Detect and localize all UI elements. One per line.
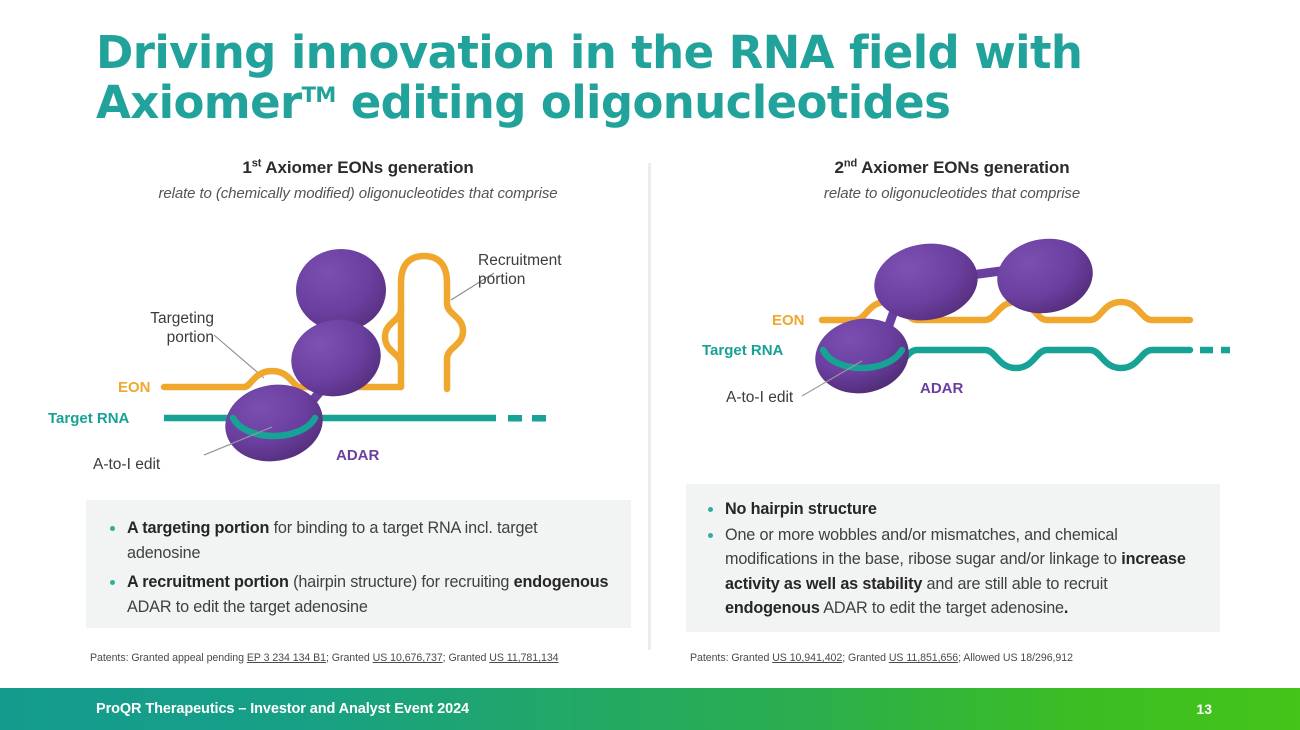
bullet-emphasis: No hairpin structure xyxy=(725,500,877,518)
bullet-text: and are still able to recruit xyxy=(922,575,1107,593)
recruitment-portion-label: Recruitment portion xyxy=(478,251,562,289)
eon-strand-right xyxy=(822,302,1190,320)
first-generation-patents-note: Patents: Granted appeal pending EP 3 234… xyxy=(90,652,559,664)
eon-hairpin-left-side xyxy=(401,256,463,389)
bullet-emphasis: endogenous xyxy=(725,599,820,617)
target-rna-dash-2 xyxy=(532,415,546,422)
adar-domain-right-first xyxy=(869,236,984,327)
patent-text: Patents: Granted appeal pending xyxy=(90,652,247,664)
title-line-2-axiomer: Axiomer xyxy=(96,76,302,129)
target-rna-strand-label: Target RNA xyxy=(48,410,129,427)
list-item: No hairpin structure xyxy=(702,497,1204,522)
trademark-superscript: TM xyxy=(302,83,336,107)
recruitment-portion-label-line2: portion xyxy=(478,271,525,288)
list-item: A targeting portion for binding to a tar… xyxy=(104,516,613,566)
patent-link[interactable]: US 10,941,402 xyxy=(772,652,842,664)
patent-link[interactable]: EP 3 234 134 B1 xyxy=(247,652,326,664)
first-generation-callout-box: A targeting portion for binding to a tar… xyxy=(86,500,631,628)
bullet-text: One or more wobbles and/or mismatches, a… xyxy=(725,526,1121,569)
page-title: Driving innovation in the RNA field with… xyxy=(96,28,1136,128)
bullet-emphasis: . xyxy=(1064,599,1068,617)
patent-text: ; Granted xyxy=(443,652,490,664)
patent-link[interactable]: US 10,676,737 xyxy=(373,652,443,664)
column-divider xyxy=(648,163,651,650)
adar-label: ADAR xyxy=(336,447,379,464)
first-generation-bullet-list: A targeting portion for binding to a tar… xyxy=(104,516,613,620)
slide-footer-bar: ProQR Therapeutics – Investor and Analys… xyxy=(0,688,1300,730)
patent-text: ; Granted xyxy=(326,652,373,664)
targeting-portion-label-line1: Targeting xyxy=(150,310,214,327)
eon-strand-label-right: EON xyxy=(772,312,805,329)
adar-domain-top xyxy=(296,249,386,331)
left-heading-text: Axiomer EONs generation xyxy=(261,158,473,177)
bullet-text: ADAR to edit the target adenosine xyxy=(820,599,1064,617)
bullet-text: (hairpin structure) for recruiting xyxy=(289,573,514,591)
left-column-heading: 1st Axiomer EONs generation xyxy=(78,158,638,178)
right-column: 2nd Axiomer EONs generation relate to ol… xyxy=(678,158,1226,202)
recruitment-portion-label-line1: Recruitment xyxy=(478,252,562,269)
left-column-subheading: relate to (chemically modified) oligonuc… xyxy=(78,185,638,202)
patent-text: ; Allowed US 18/296,912 xyxy=(958,652,1073,664)
title-line-2-rest: editing oligonucleotides xyxy=(336,76,951,129)
adar-label-right: ADAR xyxy=(920,380,963,397)
slide-canvas: Driving innovation in the RNA field with… xyxy=(0,0,1300,730)
patent-text: Patents: Granted xyxy=(690,652,772,664)
first-generation-eon-diagram: Targeting portion Recruitment portion EO… xyxy=(96,215,636,480)
bullet-emphasis: A targeting portion xyxy=(127,519,269,537)
footer-page-number: 13 xyxy=(1196,688,1212,730)
bullet-emphasis: endogenous xyxy=(514,573,609,591)
second-generation-callout-box: No hairpin structureOne or more wobbles … xyxy=(686,484,1220,632)
target-rna-dash-right-1 xyxy=(1200,347,1213,354)
a-to-i-edit-label-right: A-to-I edit xyxy=(726,388,793,407)
second-generation-bullet-list: No hairpin structureOne or more wobbles … xyxy=(702,497,1204,621)
targeting-portion-leader-line xyxy=(214,335,264,378)
list-item: A recruitment portion (hairpin structure… xyxy=(104,570,613,620)
bullet-emphasis: A recruitment portion xyxy=(127,573,289,591)
target-rna-dash-right-2 xyxy=(1221,347,1230,354)
right-column-heading: 2nd Axiomer EONs generation xyxy=(678,158,1226,178)
target-rna-dash-1 xyxy=(508,415,522,422)
targeting-portion-label: Targeting portion xyxy=(122,309,214,347)
footer-event-title: ProQR Therapeutics – Investor and Analys… xyxy=(96,688,469,730)
eon-strand-label: EON xyxy=(118,379,151,396)
patent-text: ; Granted xyxy=(842,652,889,664)
right-column-subheading: relate to oligonucleotides that comprise xyxy=(678,185,1226,202)
second-generation-patents-note: Patents: Granted US 10,941,402; Granted … xyxy=(690,652,1073,664)
patent-link[interactable]: US 11,851,656 xyxy=(889,652,958,664)
bullet-text: ADAR to edit the target adenosine xyxy=(127,598,368,616)
a-to-i-edit-label: A-to-I edit xyxy=(93,455,160,474)
patent-link[interactable]: US 11,781,134 xyxy=(489,652,558,664)
left-heading-ordinal-suffix: st xyxy=(252,157,262,169)
second-generation-eon-diagram: EON Target RNA ADAR A-to-I edit xyxy=(690,228,1230,418)
left-column: 1st Axiomer EONs generation relate to (c… xyxy=(78,158,638,202)
targeting-portion-label-line2: portion xyxy=(167,329,214,346)
list-item: One or more wobbles and/or mismatches, a… xyxy=(702,523,1204,621)
title-line-1: Driving innovation in the RNA field with xyxy=(96,26,1082,79)
left-heading-number: 1 xyxy=(242,158,251,177)
right-heading-ordinal-suffix: nd xyxy=(844,157,857,169)
target-rna-strand-label-right: Target RNA xyxy=(702,342,783,359)
right-heading-number: 2 xyxy=(835,158,844,177)
right-heading-text: Axiomer EONs generation xyxy=(857,158,1069,177)
